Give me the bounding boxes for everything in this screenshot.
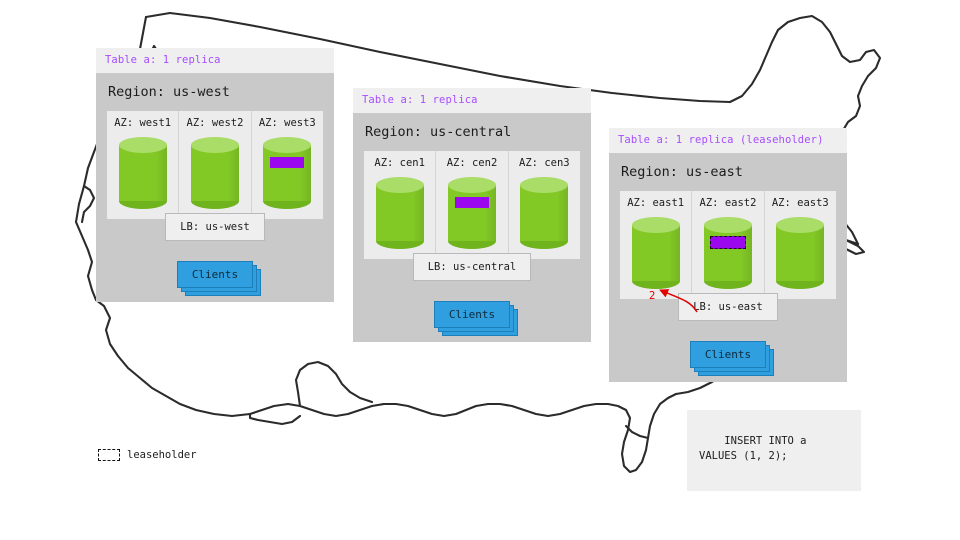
node-cylinder-cen3 [520, 177, 568, 249]
az-cell-east1: AZ: east1 [620, 191, 692, 299]
region-header-label: Table a: 1 replica [105, 54, 221, 66]
cylinder-top [448, 177, 496, 193]
az-label: AZ: east1 [627, 197, 684, 209]
cylinder-shade [300, 145, 311, 201]
node-cylinder-east1 [632, 217, 680, 289]
az-cell-west3: AZ: west3 [252, 111, 323, 219]
region-header-us-west: Table a: 1 replica [96, 48, 334, 73]
az-cell-east2: AZ: east2 [692, 191, 764, 299]
sql-text: INSERT INTO a VALUES (1, 2); [699, 435, 806, 462]
cylinder-shade [413, 185, 424, 241]
node-cylinder-west1 [119, 137, 167, 209]
clients-stack-us-west[interactable]: Clients [177, 261, 253, 288]
cylinder-shade [669, 225, 680, 281]
az-label: AZ: west1 [114, 117, 171, 129]
region-panel-us-east: Table a: 1 replica (leaseholder) Region:… [609, 128, 847, 382]
region-header-us-central: Table a: 1 replica [353, 88, 591, 113]
load-balancer-box-us-east[interactable]: LB: us-east [678, 293, 778, 321]
node-cylinder-east3 [776, 217, 824, 289]
cylinder-shade [485, 185, 496, 241]
node-cylinder-east2 [704, 217, 752, 289]
cylinder-shade [813, 225, 824, 281]
legend-label: leaseholder [127, 449, 197, 461]
arrow-label-2: 2 [649, 290, 655, 302]
region-header-label: Table a: 1 replica (leaseholder) [618, 134, 824, 146]
load-balancer-label: LB: us-west [180, 221, 250, 233]
clients-button-us-west[interactable]: Clients [177, 261, 253, 288]
replica-marker-west3 [270, 157, 304, 168]
load-balancer-box-us-central[interactable]: LB: us-central [413, 253, 532, 281]
cylinder-top [776, 217, 824, 233]
region-header-us-east: Table a: 1 replica (leaseholder) [609, 128, 847, 153]
az-row: AZ: west1 AZ: west2 [107, 111, 323, 219]
clients-button-us-east[interactable]: Clients [690, 341, 766, 368]
cylinder-shade [156, 145, 167, 201]
cylinder-top [191, 137, 239, 153]
az-label: AZ: west2 [187, 117, 244, 129]
region-title: Region: us-central [365, 124, 580, 140]
az-cell-east3: AZ: east3 [765, 191, 836, 299]
region-body-us-west: Region: us-west AZ: west1 AZ: west2 [96, 73, 334, 302]
az-label: AZ: cen1 [374, 157, 425, 169]
az-label: AZ: cen3 [519, 157, 570, 169]
load-balancer-box-us-west[interactable]: LB: us-west [165, 213, 265, 241]
replica-marker-leaseholder-east2 [710, 236, 746, 249]
node-cylinder-cen1 [376, 177, 424, 249]
az-label: AZ: east3 [772, 197, 829, 209]
clients-stack-us-central[interactable]: Clients [434, 301, 510, 328]
clients-button-us-central[interactable]: Clients [434, 301, 510, 328]
clients-label: Clients [192, 268, 238, 281]
cylinder-shade [741, 225, 752, 281]
region-title: Region: us-west [108, 84, 323, 100]
sql-statement-box: INSERT INTO a VALUES (1, 2); [687, 410, 861, 491]
az-row: AZ: cen1 AZ: cen2 [364, 151, 580, 259]
cylinder-top [263, 137, 311, 153]
cylinder-top [632, 217, 680, 233]
node-cylinder-west2 [191, 137, 239, 209]
node-cylinder-cen2 [448, 177, 496, 249]
load-balancer-label: LB: us-east [693, 301, 763, 313]
az-cell-cen3: AZ: cen3 [509, 151, 580, 259]
cylinder-top [376, 177, 424, 193]
load-balancer-label: LB: us-central [428, 261, 517, 273]
cylinder-shade [557, 185, 568, 241]
replica-marker-cen2 [455, 197, 489, 208]
diagram-canvas: Table a: 1 replica Region: us-west AZ: w… [0, 0, 960, 540]
clients-label: Clients [449, 308, 495, 321]
cylinder-top [704, 217, 752, 233]
az-cell-cen1: AZ: cen1 [364, 151, 436, 259]
az-cell-west2: AZ: west2 [179, 111, 251, 219]
region-panel-us-central: Table a: 1 replica Region: us-central AZ… [353, 88, 591, 342]
region-title: Region: us-east [621, 164, 836, 180]
dashed-box-icon [98, 449, 120, 461]
az-label: AZ: east2 [700, 197, 757, 209]
node-cylinder-west3 [263, 137, 311, 209]
cylinder-top [520, 177, 568, 193]
region-panel-us-west: Table a: 1 replica Region: us-west AZ: w… [96, 48, 334, 302]
az-row: AZ: east1 AZ: east2 [620, 191, 836, 299]
az-label: AZ: west3 [259, 117, 316, 129]
region-header-label: Table a: 1 replica [362, 94, 478, 106]
clients-stack-us-east[interactable]: Clients [690, 341, 766, 368]
cylinder-top [119, 137, 167, 153]
az-cell-cen2: AZ: cen2 [436, 151, 508, 259]
az-cell-west1: AZ: west1 [107, 111, 179, 219]
region-body-us-central: Region: us-central AZ: cen1 AZ: cen2 [353, 113, 591, 342]
cylinder-shade [228, 145, 239, 201]
clients-label: Clients [705, 348, 751, 361]
region-body-us-east: Region: us-east AZ: east1 AZ: east2 [609, 153, 847, 382]
az-label: AZ: cen2 [447, 157, 498, 169]
legend-leaseholder: leaseholder [98, 449, 197, 461]
